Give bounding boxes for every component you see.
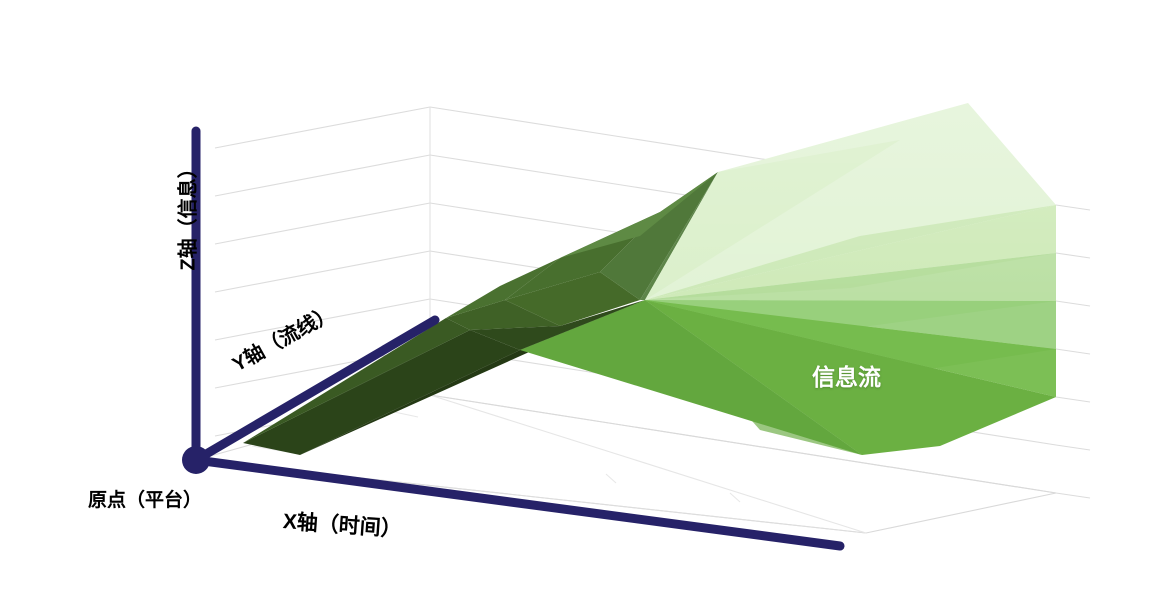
z-axis-label: Z轴（信息） (172, 125, 201, 305)
grid-right-tick-marks (1056, 205, 1090, 498)
origin-marker-dot (182, 446, 210, 474)
information-flow-annotation: 信息流 (812, 358, 881, 392)
surface-sheen (645, 103, 1056, 300)
chart-canvas: Z轴（信息） Y轴（流线） X轴（时间） 原点（平台） 信息流 (0, 0, 1167, 598)
origin-label: 原点（平台） (88, 485, 202, 512)
